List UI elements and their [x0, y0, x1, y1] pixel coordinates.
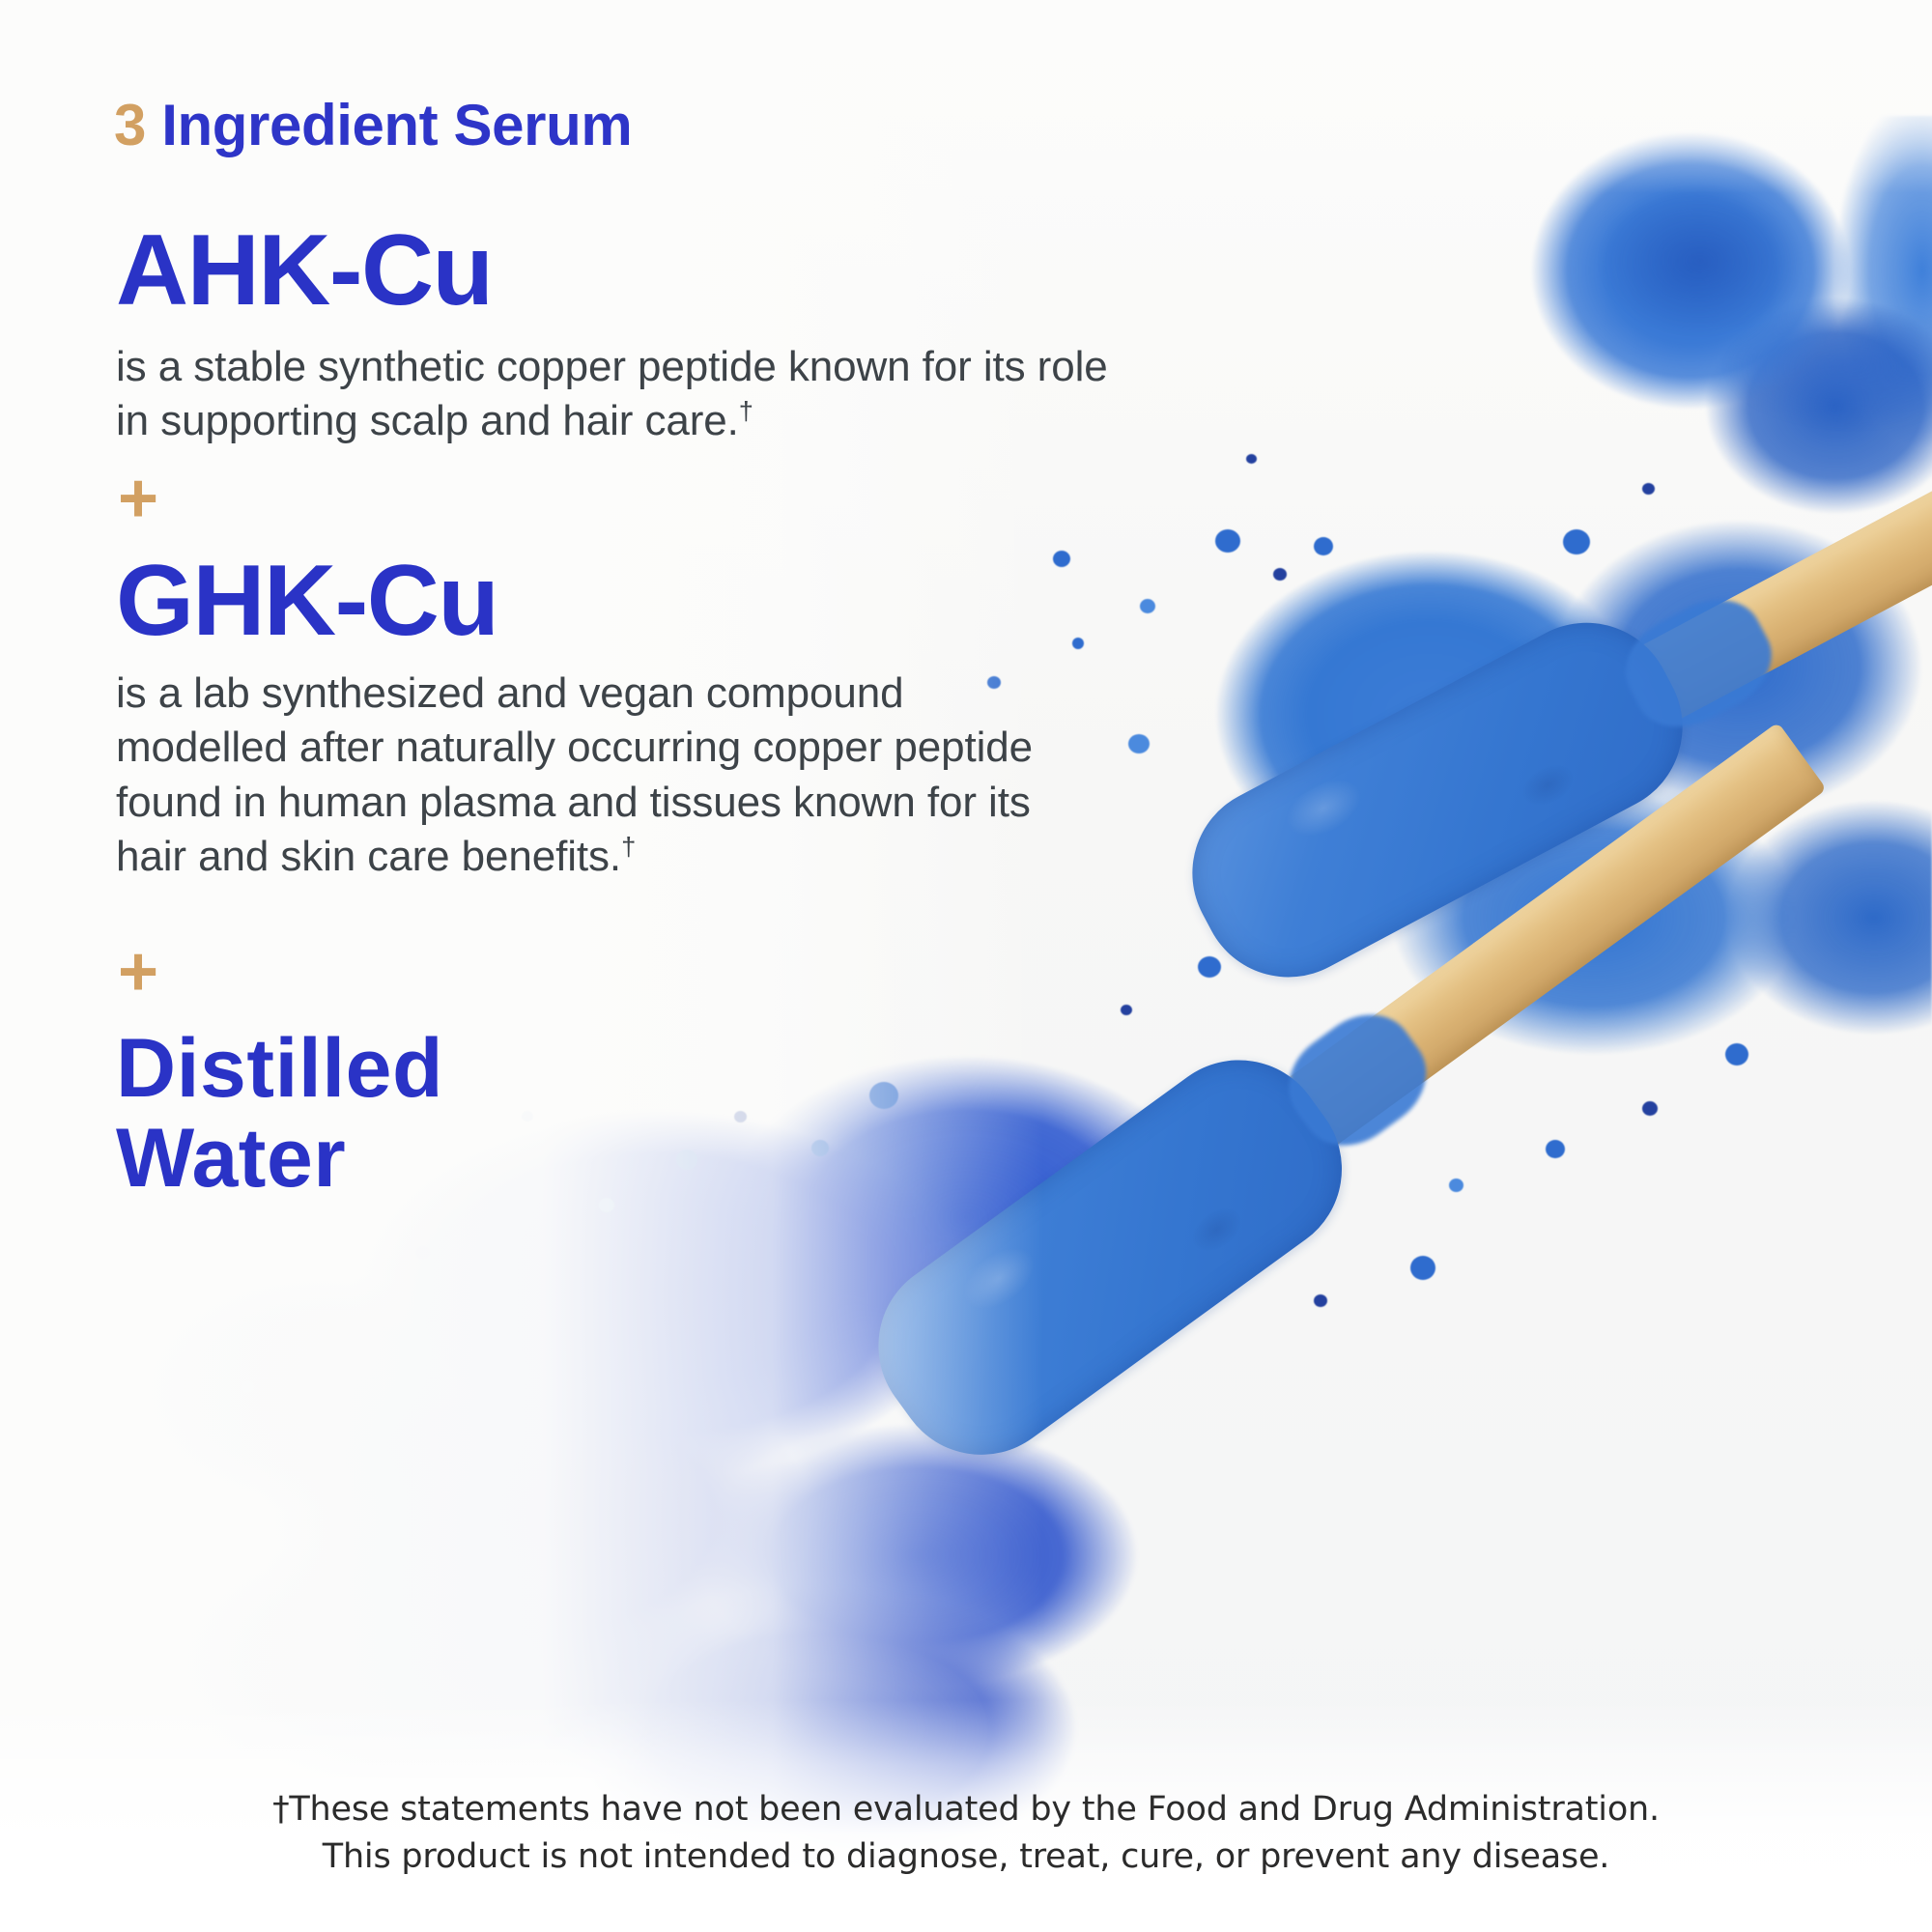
dagger-marker-ghk: † [621, 831, 636, 861]
ingredient-ahk-cu: AHK-Cu [116, 220, 493, 321]
infographic-page: 3 Ingredient Serum AHK-Cu is a stable sy… [0, 0, 1932, 1932]
disclaimer-line-2: This product is not intended to diagnose… [0, 1833, 1932, 1882]
plus-separator-1: + [118, 464, 158, 533]
ingredient-title-ghk-cu: GHK-Cu [116, 551, 497, 651]
ingredient-title-ahk-cu: AHK-Cu [116, 220, 493, 321]
text-content: 3 Ingredient Serum AHK-Cu is a stable sy… [0, 0, 1932, 1932]
ghk-description-text: is a lab synthesized and vegan compound … [116, 669, 1033, 880]
ingredient-title-distilled-water: Distilled Water [116, 1024, 638, 1204]
fda-disclaimer: †These statements have not been evaluate… [0, 1786, 1932, 1882]
ingredient-distilled-water: Distilled Water [116, 1024, 638, 1204]
eyebrow-heading: 3 Ingredient Serum [114, 92, 632, 158]
dagger-marker-ahk: † [739, 396, 753, 426]
plus-separator-2: + [118, 937, 158, 1007]
ingredient-description-ghk-cu: is a lab synthesized and vegan compound … [116, 667, 1082, 884]
disclaimer-line-1: †These statements have not been evaluate… [0, 1786, 1932, 1834]
ingredient-count: 3 [114, 93, 146, 157]
eyebrow-label: Ingredient Serum [146, 93, 632, 157]
ahk-description-text: is a stable synthetic copper peptide kno… [116, 343, 1108, 444]
ingredient-ghk-cu: GHK-Cu [116, 551, 497, 651]
ingredient-description-ahk-cu: is a stable synthetic copper peptide kno… [116, 340, 1121, 449]
